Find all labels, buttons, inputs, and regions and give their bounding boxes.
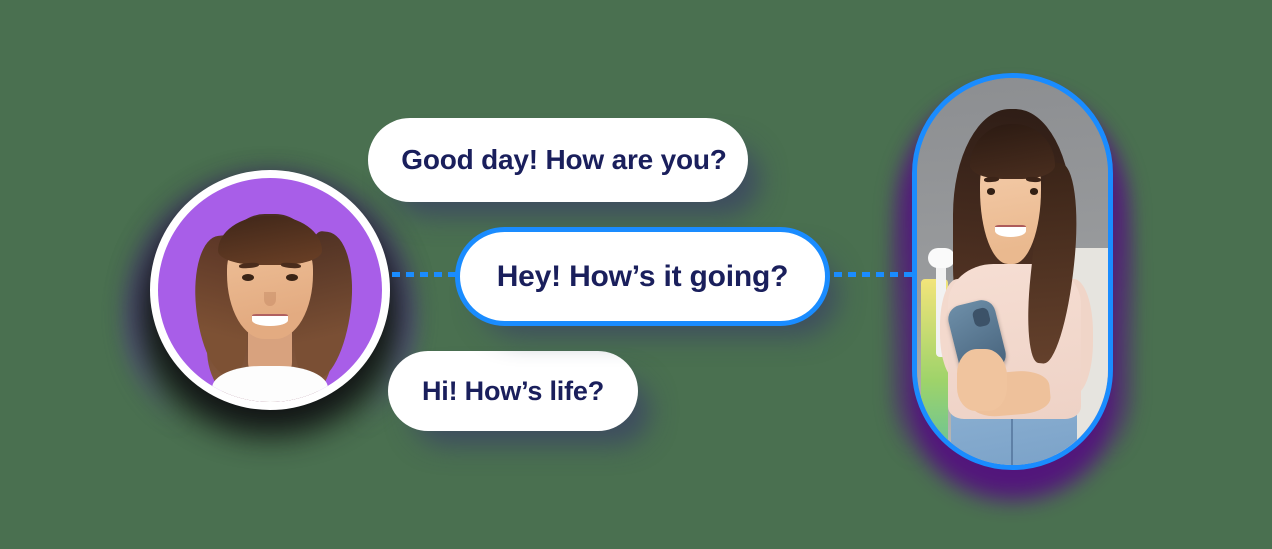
dotted-connector-right-icon — [834, 272, 916, 277]
photo-pole-head — [928, 248, 955, 267]
dotted-connector-left-icon — [392, 272, 458, 277]
avatar-portrait-image — [158, 178, 382, 402]
portrait-smile — [252, 314, 288, 326]
photo-eyebrow-right — [1026, 176, 1042, 182]
chat-bubble-selected[interactable]: Hey! How’s it going? — [455, 227, 830, 326]
illustration-stage: Good day! How are you? Hey! How’s it goi… — [0, 0, 1272, 549]
user-photo-frame — [912, 73, 1113, 470]
photo-hand — [957, 349, 1007, 411]
user-photo-image — [917, 78, 1108, 465]
avatar[interactable] — [150, 170, 390, 410]
portrait-fringe — [218, 216, 321, 265]
chat-bubble-top[interactable]: Good day! How are you? — [368, 118, 748, 202]
chat-bubble-selected-text: Hey! How’s it going? — [497, 260, 789, 294]
user-photo-card[interactable] — [912, 73, 1113, 470]
photo-eye-left — [987, 188, 996, 195]
chat-bubble-bottom-text: Hi! How’s life? — [422, 376, 604, 407]
portrait-shirt — [212, 366, 328, 402]
chat-bubble-top-text: Good day! How are you? — [401, 144, 726, 176]
chat-bubble-bottom[interactable]: Hi! How’s life? — [388, 351, 638, 431]
portrait-nose — [264, 292, 275, 305]
photo-smile — [995, 225, 1026, 237]
avatar-ring — [150, 170, 390, 410]
phone-camera-icon — [972, 307, 992, 328]
